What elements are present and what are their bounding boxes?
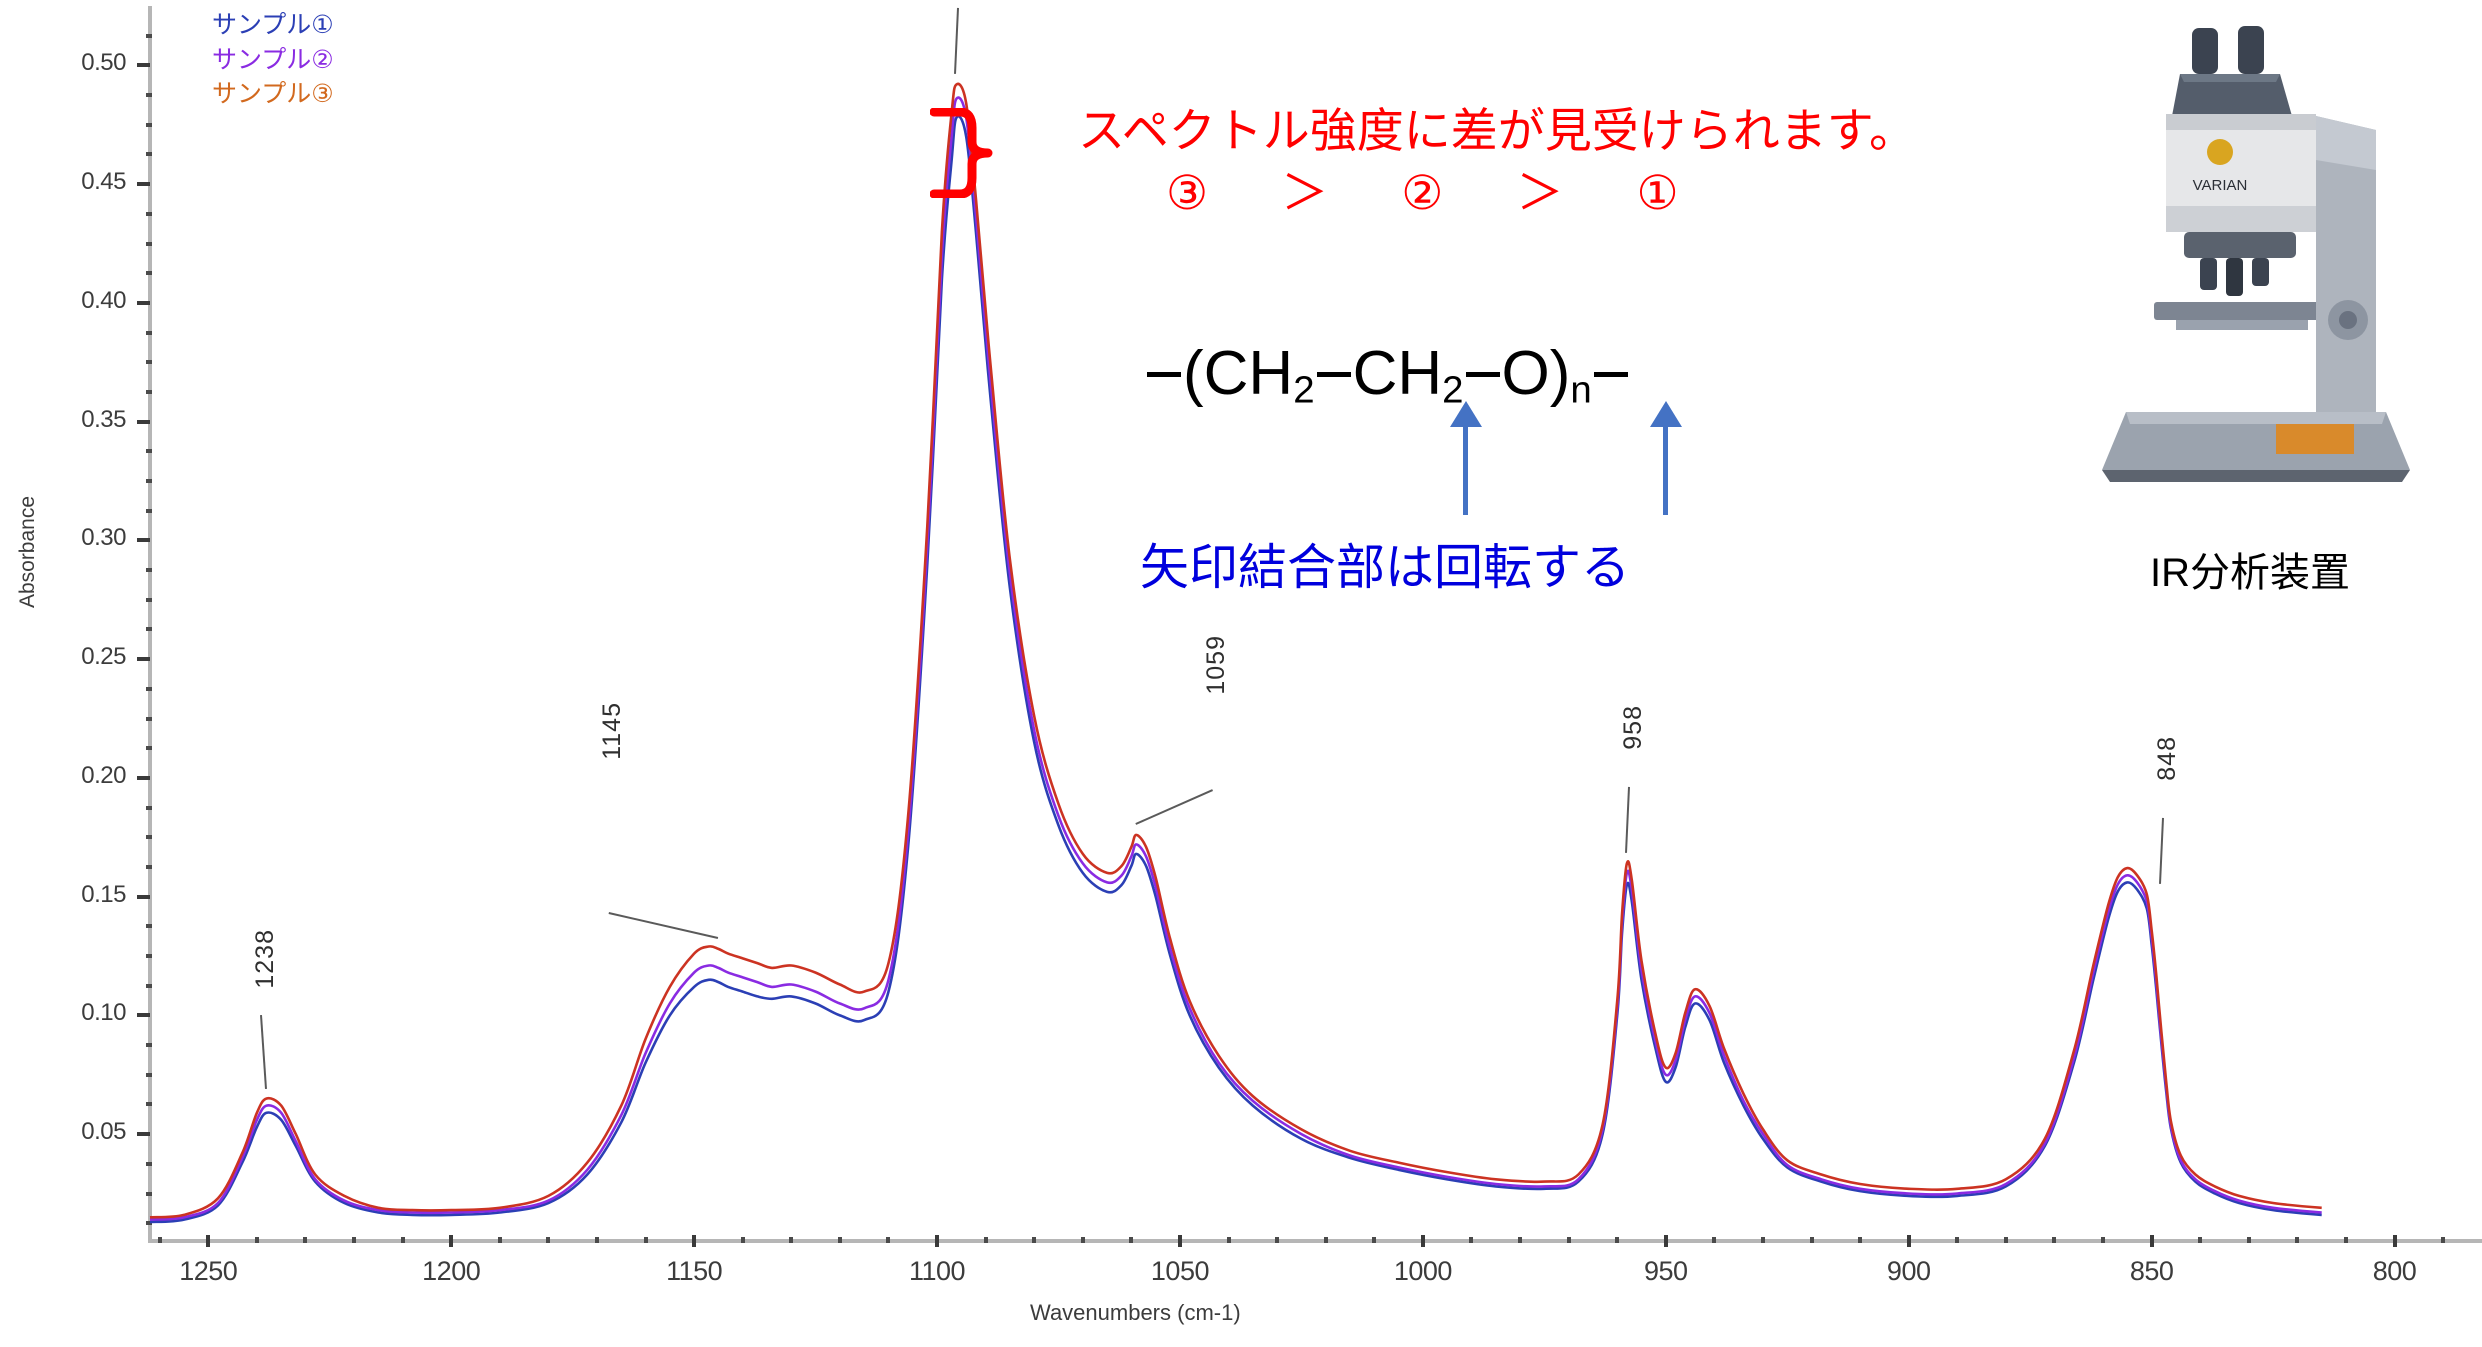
x-tick-minor xyxy=(984,1237,988,1243)
x-tick-minor xyxy=(1712,1237,1716,1243)
y-tick xyxy=(137,301,150,305)
x-tick-label: 900 xyxy=(1887,1256,1931,1287)
peak-leader-1059 xyxy=(1135,789,1213,825)
y-tick-label: 0.05 xyxy=(0,1118,126,1146)
bond-dash-right xyxy=(1594,372,1628,377)
y-tick-minor xyxy=(146,509,152,513)
x-tick-minor xyxy=(2247,1237,2251,1243)
red-annotation-line1: スペクトル強度に差が見受けられます。 xyxy=(1078,100,1916,162)
oxygen-atom: O xyxy=(1502,339,1550,408)
y-tick xyxy=(137,63,150,67)
x-tick xyxy=(1907,1235,1911,1247)
y-tick-label: 0.35 xyxy=(0,406,126,434)
x-tick-minor xyxy=(1567,1237,1571,1243)
x-tick-minor xyxy=(2101,1237,2105,1243)
y-tick-minor xyxy=(146,123,152,127)
x-tick xyxy=(692,1235,696,1247)
y-tick-minor xyxy=(146,360,152,364)
bond-dash-left xyxy=(1147,372,1181,377)
y-tick-minor xyxy=(146,1073,152,1077)
x-tick-minor xyxy=(595,1237,599,1243)
peak-leader-958 xyxy=(1625,787,1630,853)
x-tick-minor xyxy=(2198,1237,2202,1243)
x-tick-minor xyxy=(1324,1237,1328,1243)
x-tick-minor xyxy=(158,1237,162,1243)
peak-leader-1096 xyxy=(954,8,959,74)
ch2-subscript-1: 2 xyxy=(1293,368,1314,411)
red-annotation-line2: ③ ＞ ② ＞ ① xyxy=(1166,162,1916,224)
y-tick-minor xyxy=(146,212,152,216)
y-tick xyxy=(137,895,150,899)
x-tick-minor xyxy=(1129,1237,1133,1243)
x-tick xyxy=(2393,1235,2397,1247)
y-tick-minor xyxy=(146,984,152,988)
bond-dash-1 xyxy=(1317,372,1351,377)
x-tick-minor xyxy=(886,1237,890,1243)
y-tick xyxy=(137,182,150,186)
x-tick-label: 1150 xyxy=(666,1256,722,1287)
y-tick-label: 0.30 xyxy=(0,524,126,552)
y-tick-minor xyxy=(146,1221,152,1225)
x-tick-label: 950 xyxy=(1644,1256,1688,1287)
red-annotation: スペクトル強度に差が見受けられます。 ③ ＞ ② ＞ ① xyxy=(1078,100,1916,224)
x-tick-minor xyxy=(2441,1237,2445,1243)
y-tick-minor xyxy=(146,1192,152,1196)
y-tick-minor xyxy=(146,1102,152,1106)
x-tick-label: 800 xyxy=(2373,1256,2417,1287)
spectrum-line-2 xyxy=(150,98,2322,1220)
y-tick-minor xyxy=(146,568,152,572)
peak-label-1145: 1145 xyxy=(598,702,627,760)
y-tick-minor xyxy=(146,449,152,453)
x-tick xyxy=(2150,1235,2154,1247)
x-tick xyxy=(935,1235,939,1247)
y-tick-minor xyxy=(146,271,152,275)
x-tick-minor xyxy=(352,1237,356,1243)
y-tick-minor xyxy=(146,627,152,631)
x-tick-minor xyxy=(401,1237,405,1243)
y-tick-minor xyxy=(146,806,152,810)
x-tick-label: 1000 xyxy=(1394,1256,1452,1287)
y-tick-minor xyxy=(146,954,152,958)
rotation-arrow-1 xyxy=(1463,425,1468,515)
ir-analyzer-photo: VARIAN xyxy=(2080,20,2420,490)
y-tick-minor xyxy=(146,865,152,869)
y-tick-minor xyxy=(146,924,152,928)
x-tick-label: 1100 xyxy=(909,1256,965,1287)
ir-spectrum-chart: Absorbance Wavenumbers (cm-1) 0.500.450.… xyxy=(0,0,2482,1347)
peak-label-1059: 1059 xyxy=(1202,635,1231,695)
y-axis-line xyxy=(148,6,152,1241)
peak-leader-848 xyxy=(2159,818,2164,884)
x-tick-minor xyxy=(2295,1237,2299,1243)
y-tick-minor xyxy=(146,93,152,97)
x-tick xyxy=(1664,1235,1668,1247)
x-tick-minor xyxy=(303,1237,307,1243)
x-tick-minor xyxy=(741,1237,745,1243)
x-tick-minor xyxy=(2052,1237,2056,1243)
y-tick-minor xyxy=(146,152,152,156)
x-tick-minor xyxy=(1955,1237,1959,1243)
x-tick-minor xyxy=(2344,1237,2348,1243)
chemical-formula: (CH2CH2O)n xyxy=(1145,338,1630,412)
y-tick-minor xyxy=(146,390,152,394)
x-tick-label: 1200 xyxy=(422,1256,480,1287)
spectrum-line-1 xyxy=(150,116,2322,1222)
y-tick-label: 0.40 xyxy=(0,287,126,315)
bond-dash-2 xyxy=(1466,372,1500,377)
y-tick xyxy=(137,420,150,424)
x-tick-minor xyxy=(1032,1237,1036,1243)
close-paren: ) xyxy=(1550,339,1571,408)
x-axis-title: Wavenumbers (cm-1) xyxy=(1030,1300,1241,1326)
x-tick-minor xyxy=(1810,1237,1814,1243)
x-tick-minor xyxy=(1858,1237,1862,1243)
peak-leader-1145 xyxy=(609,912,718,939)
x-tick-minor xyxy=(1615,1237,1619,1243)
legend-item-1: サンプル① xyxy=(212,8,334,43)
y-tick-minor xyxy=(146,835,152,839)
x-tick-minor xyxy=(1227,1237,1231,1243)
y-tick-minor xyxy=(146,331,152,335)
x-tick-label: 1050 xyxy=(1151,1256,1209,1287)
y-tick-minor xyxy=(146,717,152,721)
y-tick-minor xyxy=(146,242,152,246)
x-tick-minor xyxy=(1275,1237,1279,1243)
y-tick xyxy=(137,776,150,780)
peak-label-958: 958 xyxy=(1619,705,1648,750)
open-paren: ( xyxy=(1183,339,1204,408)
y-tick-minor xyxy=(146,34,152,38)
y-tick-label: 0.20 xyxy=(0,762,126,790)
y-tick xyxy=(137,1013,150,1017)
ch2-group-1: CH xyxy=(1204,339,1294,408)
x-tick-minor xyxy=(644,1237,648,1243)
y-tick-label: 0.15 xyxy=(0,881,126,909)
peak-label-848: 848 xyxy=(2153,736,2182,781)
x-tick-minor xyxy=(498,1237,502,1243)
x-tick-minor xyxy=(1469,1237,1473,1243)
x-tick-minor xyxy=(546,1237,550,1243)
x-tick-minor xyxy=(2004,1237,2008,1243)
x-tick-minor xyxy=(838,1237,842,1243)
x-tick-minor xyxy=(1518,1237,1522,1243)
x-tick-minor xyxy=(1761,1237,1765,1243)
x-tick-label: 1250 xyxy=(179,1256,237,1287)
legend-item-3: サンプル③ xyxy=(212,77,334,112)
peak-leader-1238 xyxy=(260,1015,267,1089)
peak-label-1238: 1238 xyxy=(251,929,280,989)
x-tick xyxy=(1178,1235,1182,1247)
ir-analyzer-caption: IR分析装置 xyxy=(2080,540,2420,598)
repeat-subscript-n: n xyxy=(1570,368,1591,411)
y-tick-label: 0.10 xyxy=(0,999,126,1027)
y-tick xyxy=(137,1132,150,1136)
y-tick xyxy=(137,657,150,661)
x-tick-minor xyxy=(789,1237,793,1243)
x-tick xyxy=(1421,1235,1425,1247)
svg-text:VARIAN: VARIAN xyxy=(2193,177,2248,194)
y-tick-label: 0.50 xyxy=(0,49,126,77)
red-brace-icon xyxy=(930,108,1010,198)
y-tick xyxy=(137,538,150,542)
x-tick-minor xyxy=(255,1237,259,1243)
ch2-group-2: CH xyxy=(1353,339,1443,408)
rotation-arrow-2 xyxy=(1663,425,1668,515)
y-tick-minor xyxy=(146,479,152,483)
x-tick-minor xyxy=(1372,1237,1376,1243)
spectrum-line-3 xyxy=(150,84,2322,1217)
x-tick xyxy=(449,1235,453,1247)
y-tick-minor xyxy=(146,1162,152,1166)
x-tick-minor xyxy=(1081,1237,1085,1243)
y-tick-minor xyxy=(146,687,152,691)
y-tick-label: 0.45 xyxy=(0,168,126,196)
x-tick-label: 850 xyxy=(2130,1256,2174,1287)
legend: サンプル①サンプル②サンプル③ xyxy=(212,8,334,112)
legend-item-2: サンプル② xyxy=(212,43,334,78)
y-tick-minor xyxy=(146,746,152,750)
y-tick-minor xyxy=(146,1043,152,1047)
blue-annotation: 矢印結合部は回転する xyxy=(1140,528,1630,599)
y-tick-minor xyxy=(146,598,152,602)
y-tick-label: 0.25 xyxy=(0,643,126,671)
x-tick xyxy=(206,1235,210,1247)
